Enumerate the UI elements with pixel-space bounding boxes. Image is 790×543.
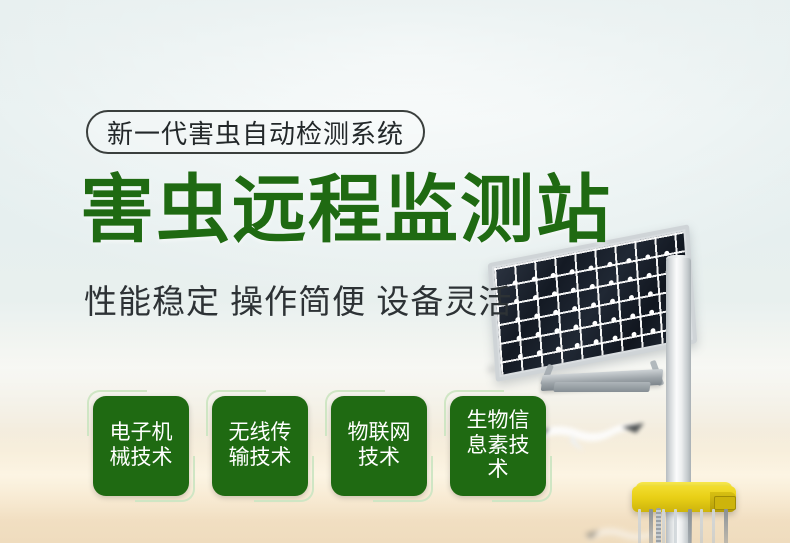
badge-label: 新一代害虫自动检测系统	[107, 114, 404, 151]
trap-collection-rods	[636, 509, 734, 543]
feature-tag[interactable]: 无线传输技术	[212, 396, 308, 496]
feature-tag-label: 生物信息素技术	[462, 409, 534, 483]
product-banner: 新一代害虫自动检测系统 害虫远程监测站 性能稳定 操作简便 设备灵活 电子机械技…	[0, 0, 790, 543]
pest-monitoring-station-illustration	[496, 246, 790, 543]
sky-haze-top	[0, 0, 790, 120]
cell-corner-gaps	[494, 231, 691, 378]
page-title: 害虫远程监测站	[80, 173, 612, 247]
feature-tag-label: 电子机械技术	[105, 421, 177, 470]
feature-tag-list: 电子机械技术 无线传输技术 物联网技术 生物信息素技术	[93, 396, 546, 496]
subtitle-badge: 新一代害虫自动检测系统	[86, 110, 425, 154]
feature-tag-label: 无线传输技术	[224, 421, 296, 470]
trap-center-screw	[656, 508, 661, 543]
feature-tag[interactable]: 生物信息素技术	[450, 396, 546, 496]
feature-tag[interactable]: 电子机械技术	[93, 396, 189, 496]
panel-mount-bracket-lower	[553, 382, 651, 392]
trap-control-box	[714, 496, 736, 510]
feature-tag[interactable]: 物联网技术	[331, 396, 427, 496]
page-subtitle: 性能稳定 操作简便 设备灵活	[84, 285, 512, 318]
feature-tag-label: 物联网技术	[343, 421, 415, 470]
